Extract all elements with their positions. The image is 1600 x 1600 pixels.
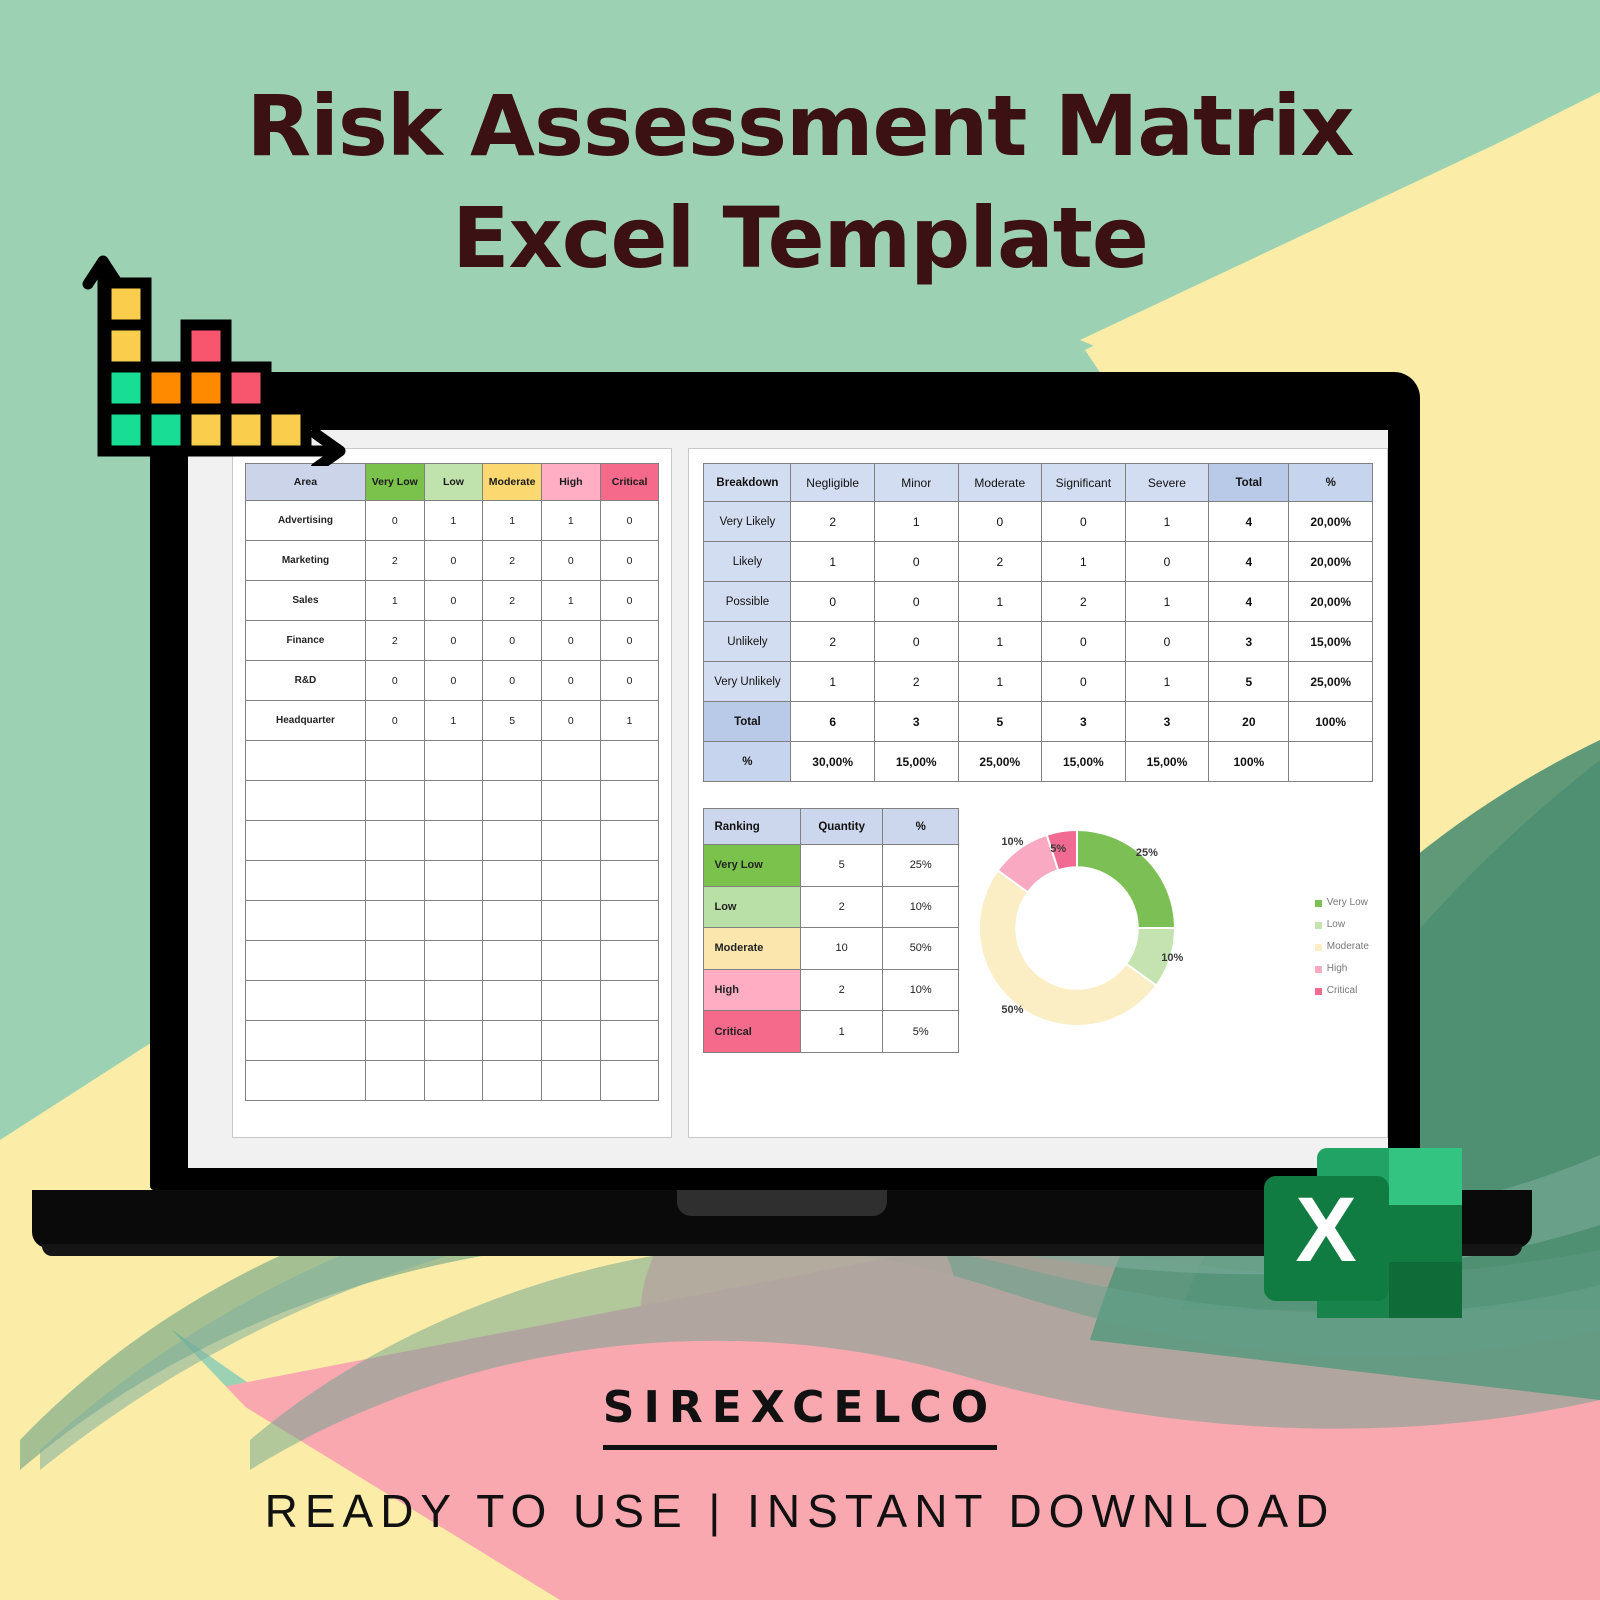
table-row-empty[interactable] — [246, 741, 659, 781]
ranking-percent-cell: 5% — [882, 1011, 959, 1053]
matrix-cell-empty[interactable] — [246, 1021, 366, 1061]
list-item[interactable]: Low210% — [704, 886, 959, 928]
ranking-quantity-cell[interactable]: 2 — [801, 969, 883, 1011]
breakdown-cell[interactable]: 3 — [1125, 702, 1209, 742]
matrix-cell-empty[interactable] — [483, 861, 542, 901]
matrix-cell-empty[interactable] — [483, 781, 542, 821]
legend-item: Very Low — [1315, 892, 1369, 914]
breakdown-cell[interactable]: 0 — [874, 582, 958, 622]
breakdown-cell[interactable]: 0 — [1042, 662, 1126, 702]
breakdown-percent-cell: 20,00% — [1289, 542, 1373, 582]
breakdown-header-total: Total — [1209, 464, 1289, 502]
matrix-cell[interactable]: 0 — [600, 541, 659, 581]
breakdown-total-cell: 100% — [1209, 742, 1289, 782]
matrix-cell-empty[interactable] — [600, 941, 659, 981]
bar-chart-arrow-icon — [78, 236, 358, 466]
breakdown-cell[interactable]: 1 — [1042, 542, 1126, 582]
breakdown-total-cell: 20 — [1209, 702, 1289, 742]
matrix-cell[interactable]: 1 — [483, 501, 542, 541]
matrix-row-label: Advertising — [246, 501, 366, 541]
breakdown-header-moderate: Moderate — [958, 464, 1042, 502]
breakdown-cell[interactable]: 0 — [791, 582, 875, 622]
breakdown-cell[interactable]: 2 — [1042, 582, 1126, 622]
ranking-header-row: Ranking Quantity % — [704, 809, 959, 845]
matrix-cell-empty[interactable] — [246, 901, 366, 941]
list-item[interactable]: High210% — [704, 969, 959, 1011]
matrix-cell-empty[interactable] — [483, 981, 542, 1021]
ranking-row-label: Low — [704, 886, 801, 928]
matrix-cell-empty[interactable] — [600, 981, 659, 1021]
matrix-cell-empty[interactable] — [246, 741, 366, 781]
matrix-cell[interactable]: 0 — [483, 621, 542, 661]
matrix-cell[interactable]: 0 — [424, 581, 483, 621]
breakdown-percent-cell: 100% — [1289, 702, 1373, 742]
matrix-header-area: Area — [246, 464, 366, 501]
matrix-cell-empty[interactable] — [246, 1061, 366, 1101]
breakdown-total-cell: 3 — [1209, 622, 1289, 662]
table-row[interactable]: Marketing20200 — [246, 541, 659, 581]
matrix-cell[interactable]: 0 — [600, 661, 659, 701]
matrix-cell[interactable]: 0 — [542, 661, 601, 701]
breakdown-cell[interactable]: 1 — [958, 622, 1042, 662]
legend-swatch-icon — [1315, 900, 1322, 907]
breakdown-cell[interactable]: 2 — [874, 662, 958, 702]
matrix-cell[interactable]: 2 — [483, 541, 542, 581]
breakdown-cell[interactable]: 1 — [958, 582, 1042, 622]
breakdown-cell[interactable]: 6 — [791, 702, 875, 742]
breakdown-cell[interactable]: 0 — [1125, 542, 1209, 582]
breakdown-percent-cell — [1289, 742, 1373, 782]
breakdown-header-negligible: Negligible — [791, 464, 875, 502]
breakdown-percent-cell: 20,00% — [1289, 502, 1373, 542]
breakdown-cell[interactable]: 0 — [1042, 622, 1126, 662]
matrix-cell-empty[interactable] — [600, 901, 659, 941]
matrix-cell-empty[interactable] — [365, 781, 424, 821]
spreadsheet-screen: Area Very Low Low Moderate High Critical… — [188, 430, 1388, 1168]
breakdown-cell[interactable]: 0 — [874, 622, 958, 662]
table-row[interactable]: Possible00121420,00% — [704, 582, 1373, 622]
matrix-cell-empty[interactable] — [424, 821, 483, 861]
breakdown-row-label: Total — [704, 702, 791, 742]
breakdown-cell[interactable]: 15,00% — [874, 742, 958, 782]
breakdown-cell[interactable]: 0 — [1042, 502, 1126, 542]
legend-label: Moderate — [1327, 936, 1369, 958]
breakdown-cell[interactable]: 0 — [1125, 622, 1209, 662]
matrix-cell-empty[interactable] — [424, 1061, 483, 1101]
matrix-cell[interactable]: 1 — [542, 581, 601, 621]
legend-label: High — [1327, 958, 1348, 980]
ranking-percent-cell: 50% — [882, 928, 959, 970]
breakdown-cell[interactable]: 15,00% — [1042, 742, 1126, 782]
table-row[interactable]: Likely10210420,00% — [704, 542, 1373, 582]
matrix-cell[interactable]: 0 — [424, 541, 483, 581]
analysis-pane: Breakdown Negligible Minor Moderate Sign… — [688, 448, 1388, 1138]
matrix-cell[interactable]: 0 — [365, 501, 424, 541]
breakdown-cell[interactable]: 0 — [958, 502, 1042, 542]
breakdown-cell[interactable]: 1 — [1125, 662, 1209, 702]
table-row-empty[interactable] — [246, 981, 659, 1021]
matrix-header-high: High — [542, 464, 601, 501]
matrix-cell-empty[interactable] — [542, 1061, 601, 1101]
matrix-cell[interactable]: 5 — [483, 701, 542, 741]
matrix-row-label: Sales — [246, 581, 366, 621]
legend-swatch-icon — [1315, 988, 1322, 995]
legend-label: Very Low — [1327, 892, 1368, 914]
matrix-cell[interactable]: 0 — [600, 621, 659, 661]
breakdown-header-row: Breakdown Negligible Minor Moderate Sign… — [704, 464, 1373, 502]
matrix-row-label: R&D — [246, 661, 366, 701]
table-row-empty[interactable] — [246, 781, 659, 821]
breakdown-row-label: Very Unlikely — [704, 662, 791, 702]
matrix-cell-empty[interactable] — [483, 741, 542, 781]
matrix-cell-empty[interactable] — [600, 781, 659, 821]
matrix-cell-empty[interactable] — [483, 941, 542, 981]
chart-legend: Very LowLowModerateHighCritical — [1315, 892, 1369, 1002]
table-row[interactable]: Very Likely21001420,00% — [704, 502, 1373, 542]
matrix-cell-empty[interactable] — [542, 1021, 601, 1061]
matrix-cell[interactable]: 0 — [365, 701, 424, 741]
ranking-quantity-cell[interactable]: 5 — [801, 845, 883, 887]
breakdown-row-label: Unlikely — [704, 622, 791, 662]
breakdown-cell[interactable]: 2 — [958, 542, 1042, 582]
matrix-cell-empty[interactable] — [365, 981, 424, 1021]
matrix-cell[interactable]: 1 — [542, 501, 601, 541]
footer-tagline: READY TO USE | INSTANT DOWNLOAD — [0, 1484, 1600, 1538]
breakdown-total-cell: 4 — [1209, 502, 1289, 542]
matrix-cell[interactable]: 2 — [365, 621, 424, 661]
legend-label: Critical — [1327, 980, 1358, 1002]
matrix-cell-empty[interactable] — [483, 1061, 542, 1101]
ranking-row-label: Very Low — [704, 845, 801, 887]
matrix-cell-empty[interactable] — [246, 981, 366, 1021]
breakdown-cell[interactable]: 1 — [1125, 582, 1209, 622]
svg-text:X: X — [1295, 1179, 1356, 1281]
matrix-row-label: Marketing — [246, 541, 366, 581]
matrix-cell[interactable]: 0 — [600, 581, 659, 621]
breakdown-header-severe: Severe — [1125, 464, 1209, 502]
matrix-cell-empty[interactable] — [365, 1021, 424, 1061]
matrix-cell-empty[interactable] — [365, 1061, 424, 1101]
ranking-row-label: Critical — [704, 1011, 801, 1053]
ranking-row-label: High — [704, 969, 801, 1011]
matrix-cell[interactable]: 1 — [424, 701, 483, 741]
breakdown-cell[interactable]: 1 — [1125, 502, 1209, 542]
matrix-cell[interactable]: 1 — [365, 581, 424, 621]
matrix-cell-empty[interactable] — [600, 741, 659, 781]
table-row-empty[interactable] — [246, 901, 659, 941]
matrix-row-label: Headquarter — [246, 701, 366, 741]
legend-item: Critical — [1315, 980, 1369, 1002]
matrix-header-very-low: Very Low — [365, 464, 424, 501]
breakdown-header-minor: Minor — [874, 464, 958, 502]
matrix-cell-empty[interactable] — [600, 1061, 659, 1101]
breakdown-cell[interactable]: 3 — [874, 702, 958, 742]
risk-distribution-donut-chart: 25%10%50%10%5% Very LowLowModerateHighCr… — [959, 808, 1373, 1053]
matrix-cell[interactable]: 0 — [424, 621, 483, 661]
breakdown-row-label: Very Likely — [704, 502, 791, 542]
table-row-empty[interactable] — [246, 821, 659, 861]
breakdown-row-label: Possible — [704, 582, 791, 622]
ranking-quantity-cell[interactable]: 10 — [801, 928, 883, 970]
breakdown-row-label: % — [704, 742, 791, 782]
ranking-percent-cell: 25% — [882, 845, 959, 887]
breakdown-header-breakdown: Breakdown — [704, 464, 791, 502]
matrix-cell[interactable]: 0 — [424, 661, 483, 701]
matrix-cell-empty[interactable] — [542, 981, 601, 1021]
matrix-cell-empty[interactable] — [483, 1021, 542, 1061]
matrix-cell-empty[interactable] — [424, 741, 483, 781]
breakdown-total-cell: 4 — [1209, 582, 1289, 622]
breakdown-cell[interactable]: 30,00% — [791, 742, 875, 782]
list-item[interactable]: Very Low525% — [704, 845, 959, 887]
legend-item: Moderate — [1315, 936, 1369, 958]
matrix-cell-empty[interactable] — [542, 741, 601, 781]
ranking-row-label: Moderate — [704, 928, 801, 970]
breakdown-cell[interactable]: 1 — [791, 662, 875, 702]
table-row-empty[interactable] — [246, 861, 659, 901]
breakdown-cell[interactable]: 25,00% — [958, 742, 1042, 782]
breakdown-cell[interactable]: 1 — [874, 502, 958, 542]
matrix-pane: Area Very Low Low Moderate High Critical… — [232, 448, 672, 1138]
breakdown-cell[interactable]: 15,00% — [1125, 742, 1209, 782]
legend-label: Low — [1327, 914, 1345, 936]
breakdown-cell[interactable]: 3 — [1042, 702, 1126, 742]
matrix-cell-empty[interactable] — [483, 901, 542, 941]
ranking-header-quantity: Quantity — [801, 809, 883, 845]
list-item[interactable]: Critical15% — [704, 1011, 959, 1053]
legend-item: Low — [1315, 914, 1369, 936]
matrix-cell-empty[interactable] — [542, 901, 601, 941]
table-row[interactable]: Advertising01110 — [246, 501, 659, 541]
matrix-cell-empty[interactable] — [424, 1021, 483, 1061]
matrix-cell-empty[interactable] — [246, 821, 366, 861]
footer: SIREXCELCO READY TO USE | INSTANT DOWNLO… — [0, 1382, 1600, 1538]
brand-name: SIREXCELCO — [603, 1382, 997, 1450]
legend-item: High — [1315, 958, 1369, 980]
matrix-cell-empty[interactable] — [246, 781, 366, 821]
breakdown-header-significant: Significant — [1042, 464, 1126, 502]
list-item[interactable]: Moderate1050% — [704, 928, 959, 970]
breakdown-cell[interactable]: 2 — [791, 622, 875, 662]
matrix-cell-empty[interactable] — [365, 901, 424, 941]
donut-data-label: 25% — [1136, 847, 1158, 859]
matrix-cell[interactable]: 2 — [365, 541, 424, 581]
matrix-cell-empty[interactable] — [246, 941, 366, 981]
table-row-empty[interactable] — [246, 1061, 659, 1101]
breakdown-total-cell: 5 — [1209, 662, 1289, 702]
matrix-table: Area Very Low Low Moderate High Critical… — [245, 463, 659, 1101]
donut-data-label: 5% — [1050, 843, 1066, 855]
matrix-cell[interactable]: 0 — [483, 661, 542, 701]
breakdown-cell[interactable]: 2 — [791, 502, 875, 542]
legend-swatch-icon — [1315, 966, 1322, 973]
matrix-cell-empty[interactable] — [483, 821, 542, 861]
matrix-cell-empty[interactable] — [424, 901, 483, 941]
matrix-cell-empty[interactable] — [600, 821, 659, 861]
matrix-cell-empty[interactable] — [365, 821, 424, 861]
matrix-cell-empty[interactable] — [424, 981, 483, 1021]
matrix-cell[interactable]: 1 — [600, 701, 659, 741]
table-row-empty[interactable] — [246, 1021, 659, 1061]
ranking-quantity-cell[interactable]: 2 — [801, 886, 883, 928]
donut-data-label: 10% — [1161, 952, 1183, 964]
matrix-cell-empty[interactable] — [424, 941, 483, 981]
matrix-cell[interactable]: 0 — [542, 621, 601, 661]
ranking-percent-cell: 10% — [882, 886, 959, 928]
matrix-header-critical: Critical — [600, 464, 659, 501]
ranking-percent-cell: 10% — [882, 969, 959, 1011]
breakdown-table: Breakdown Negligible Minor Moderate Sign… — [703, 463, 1373, 782]
breakdown-total-cell: 4 — [1209, 542, 1289, 582]
table-row[interactable]: Headquarter01501 — [246, 701, 659, 741]
laptop-lid: Area Very Low Low Moderate High Critical… — [150, 372, 1420, 1190]
table-row[interactable]: Total6353320100% — [704, 702, 1373, 742]
donut-data-label: 50% — [1001, 1004, 1023, 1016]
breakdown-cell[interactable]: 5 — [958, 702, 1042, 742]
matrix-cell[interactable]: 1 — [424, 501, 483, 541]
table-row[interactable]: Finance20000 — [246, 621, 659, 661]
matrix-header-moderate: Moderate — [483, 464, 542, 501]
ranking-table: Ranking Quantity % Very Low525%Low210%Mo… — [703, 808, 959, 1053]
breakdown-percent-cell: 15,00% — [1289, 622, 1373, 662]
donut-data-label: 10% — [1001, 836, 1023, 848]
breakdown-row-label: Likely — [704, 542, 791, 582]
matrix-cell-empty[interactable] — [600, 861, 659, 901]
microsoft-excel-logo-icon: X — [1262, 1118, 1492, 1348]
breakdown-percent-cell: 25,00% — [1289, 662, 1373, 702]
table-row[interactable]: %30,00%15,00%25,00%15,00%15,00%100% — [704, 742, 1373, 782]
matrix-row-label: Finance — [246, 621, 366, 661]
matrix-cell[interactable]: 0 — [542, 541, 601, 581]
laptop-mockup: Area Very Low Low Moderate High Critical… — [150, 372, 1420, 1190]
matrix-cell-empty[interactable] — [365, 741, 424, 781]
table-row[interactable]: Sales10210 — [246, 581, 659, 621]
matrix-cell[interactable]: 0 — [542, 701, 601, 741]
ranking-header-percent: % — [882, 809, 959, 845]
breakdown-cell[interactable]: 1 — [958, 662, 1042, 702]
breakdown-header-percent: % — [1289, 464, 1373, 502]
matrix-cell-empty[interactable] — [542, 821, 601, 861]
matrix-header-row: Area Very Low Low Moderate High Critical — [246, 464, 659, 501]
table-row[interactable]: Unlikely20100315,00% — [704, 622, 1373, 662]
ranking-header-ranking: Ranking — [704, 809, 801, 845]
matrix-cell-empty[interactable] — [542, 781, 601, 821]
matrix-cell-empty[interactable] — [365, 941, 424, 981]
matrix-cell[interactable]: 0 — [365, 661, 424, 701]
legend-swatch-icon — [1315, 944, 1322, 951]
breakdown-cell[interactable]: 1 — [791, 542, 875, 582]
matrix-cell[interactable]: 0 — [600, 501, 659, 541]
matrix-cell-empty[interactable] — [365, 861, 424, 901]
matrix-cell-empty[interactable] — [246, 861, 366, 901]
title-line-1: Risk Assessment Matrix — [0, 70, 1600, 182]
donut-svg — [959, 808, 1229, 1048]
ranking-quantity-cell[interactable]: 1 — [801, 1011, 883, 1053]
matrix-cell-empty[interactable] — [424, 781, 483, 821]
matrix-header-low: Low — [424, 464, 483, 501]
table-row[interactable]: R&D00000 — [246, 661, 659, 701]
donut-slice-very-low[interactable] — [1077, 830, 1175, 928]
matrix-cell-empty[interactable] — [542, 941, 601, 981]
table-row[interactable]: Very Unlikely12101525,00% — [704, 662, 1373, 702]
matrix-cell-empty[interactable] — [542, 861, 601, 901]
breakdown-percent-cell: 20,00% — [1289, 582, 1373, 622]
legend-swatch-icon — [1315, 922, 1322, 929]
table-row-empty[interactable] — [246, 941, 659, 981]
breakdown-cell[interactable]: 0 — [874, 542, 958, 582]
matrix-cell-empty[interactable] — [424, 861, 483, 901]
matrix-cell[interactable]: 2 — [483, 581, 542, 621]
matrix-cell-empty[interactable] — [600, 1021, 659, 1061]
